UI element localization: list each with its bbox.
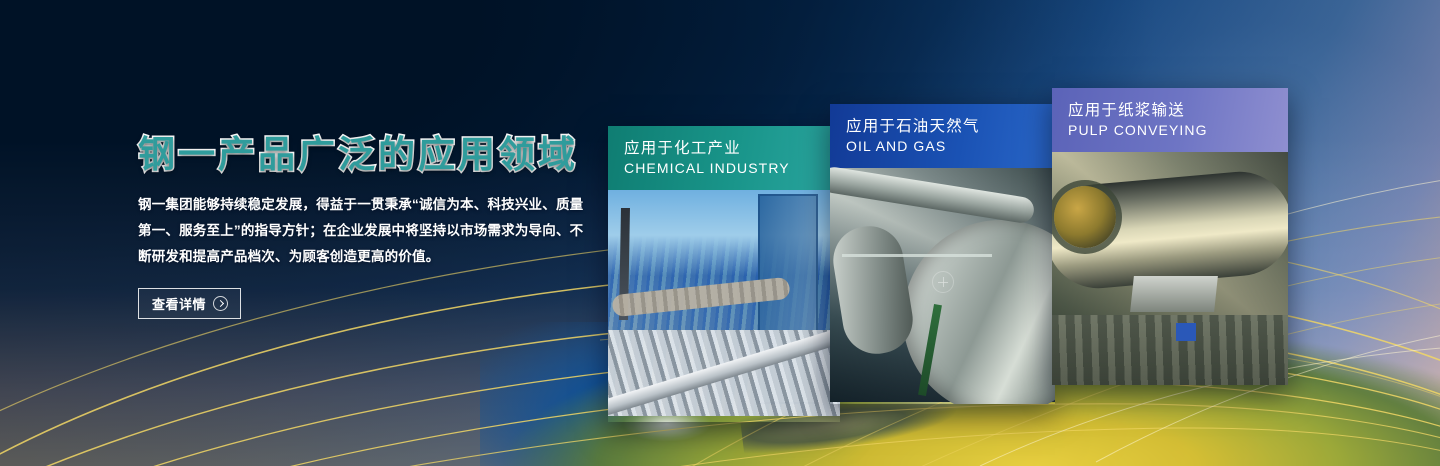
card-title-zh: 应用于化工产业: [624, 139, 824, 158]
photo-catwalk-shape: [842, 254, 992, 257]
plus-icon[interactable]: [932, 271, 954, 293]
card-title-en: OIL AND GAS: [846, 137, 1039, 155]
card-header-pulp-conveying: 应用于纸浆输送 PULP CONVEYING: [1052, 88, 1288, 152]
view-details-label: 查看详情: [152, 294, 206, 313]
card-photo-oil-gas-refinery: [830, 168, 1055, 402]
hero-description: 钢一集团能够持续稳定发展，得益于一贯秉承“诚信为本、科技兴业、质量第一、服务至上…: [138, 192, 584, 270]
photo-machine-base-shape: [1052, 315, 1288, 385]
card-photo-pulp-mill-roller: [1052, 152, 1288, 385]
photo-roller-hub-shape: [1054, 186, 1116, 248]
application-card-chemical-industry[interactable]: 应用于化工产业 CHEMICAL INDUSTRY: [608, 126, 840, 422]
card-photo-chemical-plant: [608, 190, 840, 416]
photo-vertical-duct-shape: [830, 221, 918, 358]
view-details-button[interactable]: 查看详情: [138, 288, 241, 319]
card-title-zh: 应用于石油天然气: [846, 117, 1039, 136]
card-header-oil-and-gas: 应用于石油天然气 OIL AND GAS: [830, 104, 1055, 168]
photo-frame-shape: [1130, 276, 1218, 312]
application-card-oil-and-gas[interactable]: 应用于石油天然气 OIL AND GAS: [830, 104, 1055, 404]
hero-copy-block: 钢一产品广泛的应用领域 钢一集团能够持续稳定发展，得益于一贯秉承“诚信为本、科技…: [138, 134, 598, 319]
hero-banner: 钢一产品广泛的应用领域 钢一集团能够持续稳定发展，得益于一贯秉承“诚信为本、科技…: [0, 0, 1440, 466]
card-title-en: PULP CONVEYING: [1068, 121, 1272, 139]
page-title: 钢一产品广泛的应用领域: [138, 134, 598, 176]
card-header-chemical-industry: 应用于化工产业 CHEMICAL INDUSTRY: [608, 126, 840, 190]
application-card-pulp-conveying[interactable]: 应用于纸浆输送 PULP CONVEYING: [1052, 88, 1288, 385]
photo-overhead-duct-shape: [830, 165, 1036, 224]
photo-blue-component-shape: [1176, 323, 1196, 341]
card-title-zh: 应用于纸浆输送: [1068, 101, 1272, 120]
card-title-en: CHEMICAL INDUSTRY: [624, 159, 824, 177]
chevron-right-circle-icon: [213, 296, 228, 311]
